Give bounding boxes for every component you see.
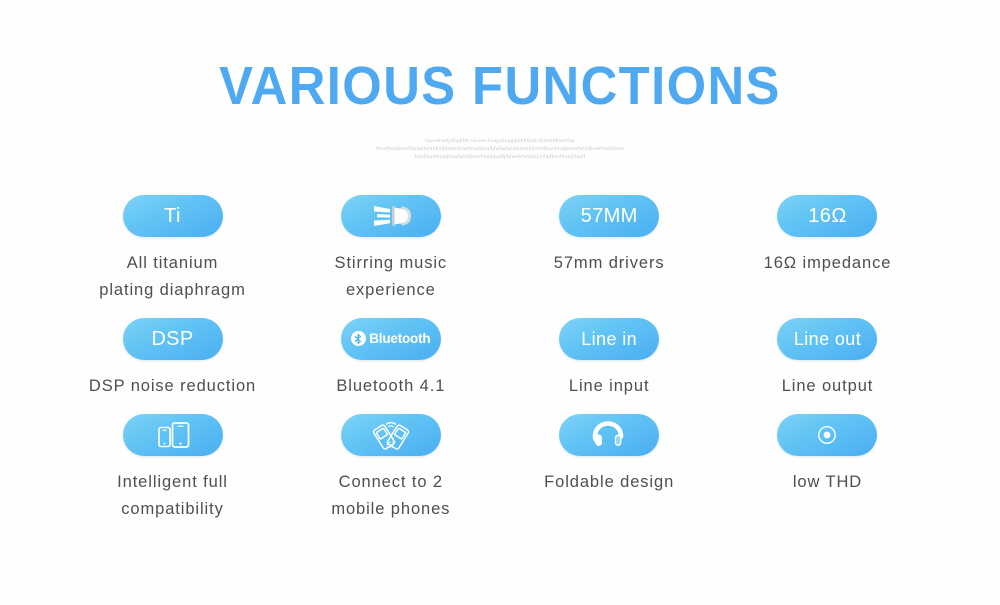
badge-dsp[interactable]: DSP — [123, 318, 223, 360]
feature-item-two-phones[interactable]: Connect to 2mobile phones — [288, 414, 493, 523]
low-thd-icon — [815, 423, 839, 447]
line-out-icon: Line out — [794, 330, 861, 348]
badge-foldable[interactable] — [559, 414, 659, 456]
feature-item-stirring-music[interactable]: Stirring musicexperience — [288, 195, 493, 304]
subtitle-line: baoviefatljidfjubffs-caome-lisagobnagdsf… — [0, 137, 1000, 145]
subtitle-line: fafalfbasffmafjifaaffafalfbasffmafjilaaf… — [0, 153, 1000, 161]
badge-bluetooth[interactable]: Bluetooth — [341, 318, 441, 360]
feature-caption: Stirring musicexperience — [335, 250, 448, 304]
bluetooth-icon — [351, 331, 366, 346]
driver-size-icon: 57MM — [581, 206, 638, 226]
titanium-icon: Ti — [164, 206, 181, 226]
badge-low-thd[interactable] — [777, 414, 877, 456]
feature-caption: Intelligent fullcompatibility — [117, 469, 228, 523]
page-header: VARIOUS FUNCTIONS baoviefatljidfjubffs-c… — [0, 0, 1000, 161]
badge-line-in[interactable]: Line in — [559, 318, 659, 360]
feature-caption: Line input — [569, 373, 650, 400]
feature-caption: low THD — [793, 469, 862, 496]
phone-tablet-icon — [153, 420, 193, 450]
feature-row: Intelligent fullcompatibility — [70, 414, 930, 523]
foldable-headphone-icon — [592, 420, 626, 450]
badge-two-phones[interactable] — [341, 414, 441, 456]
subtitle-block: baoviefatljidfjubffs-caome-lisagobnagdsf… — [0, 137, 1000, 161]
feature-caption: Foldable design — [544, 469, 674, 496]
feature-item-drivers[interactable]: 57MM 57mm drivers — [507, 195, 712, 277]
three-d-audio-icon — [368, 202, 414, 230]
feature-caption: DSP noise reduction — [89, 373, 256, 400]
feature-item-dsp[interactable]: DSP DSP noise reduction — [70, 318, 275, 400]
bluetooth-wordmark: Bluetooth — [351, 331, 430, 346]
line-in-icon: Line in — [581, 330, 637, 348]
impedance-icon: 16Ω — [808, 206, 846, 226]
feature-item-compatibility[interactable]: Intelligent fullcompatibility — [70, 414, 275, 523]
feature-caption: 57mm drivers — [554, 250, 665, 277]
feature-caption: Bluetooth 4.1 — [336, 373, 445, 400]
feature-item-impedance[interactable]: 16Ω 16Ω impedance — [725, 195, 930, 277]
feature-item-low-thd[interactable]: low THD — [725, 414, 930, 496]
bluetooth-label: Bluetooth — [369, 332, 430, 346]
badge-line-out[interactable]: Line out — [777, 318, 877, 360]
feature-item-bluetooth[interactable]: Bluetooth Bluetooth 4.1 — [288, 318, 493, 400]
page-title: VARIOUS FUNCTIONS — [30, 58, 970, 115]
badge-titanium[interactable]: Ti — [123, 195, 223, 237]
feature-row: Ti All titaniumplating diaphragm — [70, 195, 930, 304]
feature-item-foldable[interactable]: Foldable design — [507, 414, 712, 496]
feature-caption: All titaniumplating diaphragm — [99, 250, 245, 304]
feature-item-titanium[interactable]: Ti All titaniumplating diaphragm — [70, 195, 275, 304]
feature-row: DSP DSP noise reduction Bluetooth Blueto… — [70, 318, 930, 400]
feature-item-line-in[interactable]: Line in Line input — [507, 318, 712, 400]
feature-item-line-out[interactable]: Line out Line output — [725, 318, 930, 400]
badge-stirring-music[interactable] — [341, 195, 441, 237]
feature-caption: Line output — [782, 373, 874, 400]
subtitle-line: fhvaffmsfjilsaffjfafasfefafdiofjifefalif… — [0, 145, 1000, 153]
two-phones-icon — [369, 419, 413, 451]
feature-caption: 16Ω impedance — [764, 250, 892, 277]
feature-caption: Connect to 2mobile phones — [331, 469, 450, 523]
badge-compatibility[interactable] — [123, 414, 223, 456]
badge-drivers[interactable]: 57MM — [559, 195, 659, 237]
feature-grid: Ti All titaniumplating diaphragm — [0, 195, 1000, 523]
badge-impedance[interactable]: 16Ω — [777, 195, 877, 237]
dsp-icon: DSP — [151, 329, 193, 349]
